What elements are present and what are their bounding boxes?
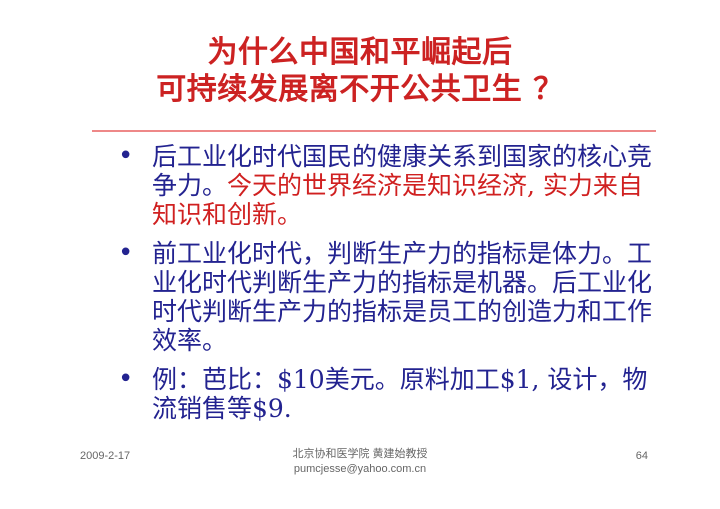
bullet-marker-icon: •	[104, 365, 152, 394]
title-divider	[92, 130, 656, 132]
bullet-text-1: 后工业化时代国民的健康关系到国家的核心竞争力。今天的世界经济是知识经济, 实力来…	[152, 142, 664, 229]
list-item: • 后工业化时代国民的健康关系到国家的核心竞争力。今天的世界经济是知识经济, 实…	[104, 142, 664, 229]
slide-title: 为什么中国和平崛起后 可持续发展离不开公共卫生 ？	[0, 34, 720, 108]
bullet-marker-icon: •	[104, 142, 152, 171]
slide-footer: 2009-2-17 北京协和医学院 黄建始教授 pumcjesse@yahoo.…	[0, 447, 720, 487]
bullet-text-2: 前工业化时代，判断生产力的指标是体力。工业化时代判断生产力的指标是机器。后工业化…	[152, 239, 664, 355]
bullet-list: • 后工业化时代国民的健康关系到国家的核心竞争力。今天的世界经济是知识经济, 实…	[104, 142, 664, 431]
list-item: • 前工业化时代，判断生产力的指标是体力。工业化时代判断生产力的指标是机器。后工…	[104, 239, 664, 355]
list-item: • 例：芭比：$10美元。原料加工$1, 设计，物流销售等$9.	[104, 365, 664, 423]
footer-attribution: 北京协和医学院 黄建始教授 pumcjesse@yahoo.com.cn	[0, 447, 720, 477]
title-line-2: 可持续发展离不开公共卫生 ？	[0, 71, 720, 108]
bullet-marker-icon: •	[104, 239, 152, 268]
bullet-3-segment-blue: 例：芭比：$10美元。原料加工$1, 设计，物流销售等$9.	[152, 365, 647, 423]
footer-page-number: 64	[636, 450, 648, 462]
slide-canvas: 为什么中国和平崛起后 可持续发展离不开公共卫生 ？ • 后工业化时代国民的健康关…	[0, 0, 720, 509]
footer-author: 北京协和医学院 黄建始教授	[0, 447, 720, 462]
bullet-2-segment-blue: 前工业化时代，判断生产力的指标是体力。工业化时代判断生产力的指标是机器。后工业化…	[152, 239, 652, 355]
title-line-1: 为什么中国和平崛起后	[0, 34, 720, 71]
bullet-text-3: 例：芭比：$10美元。原料加工$1, 设计，物流销售等$9.	[152, 365, 664, 423]
footer-email: pumcjesse@yahoo.com.cn	[0, 462, 720, 477]
